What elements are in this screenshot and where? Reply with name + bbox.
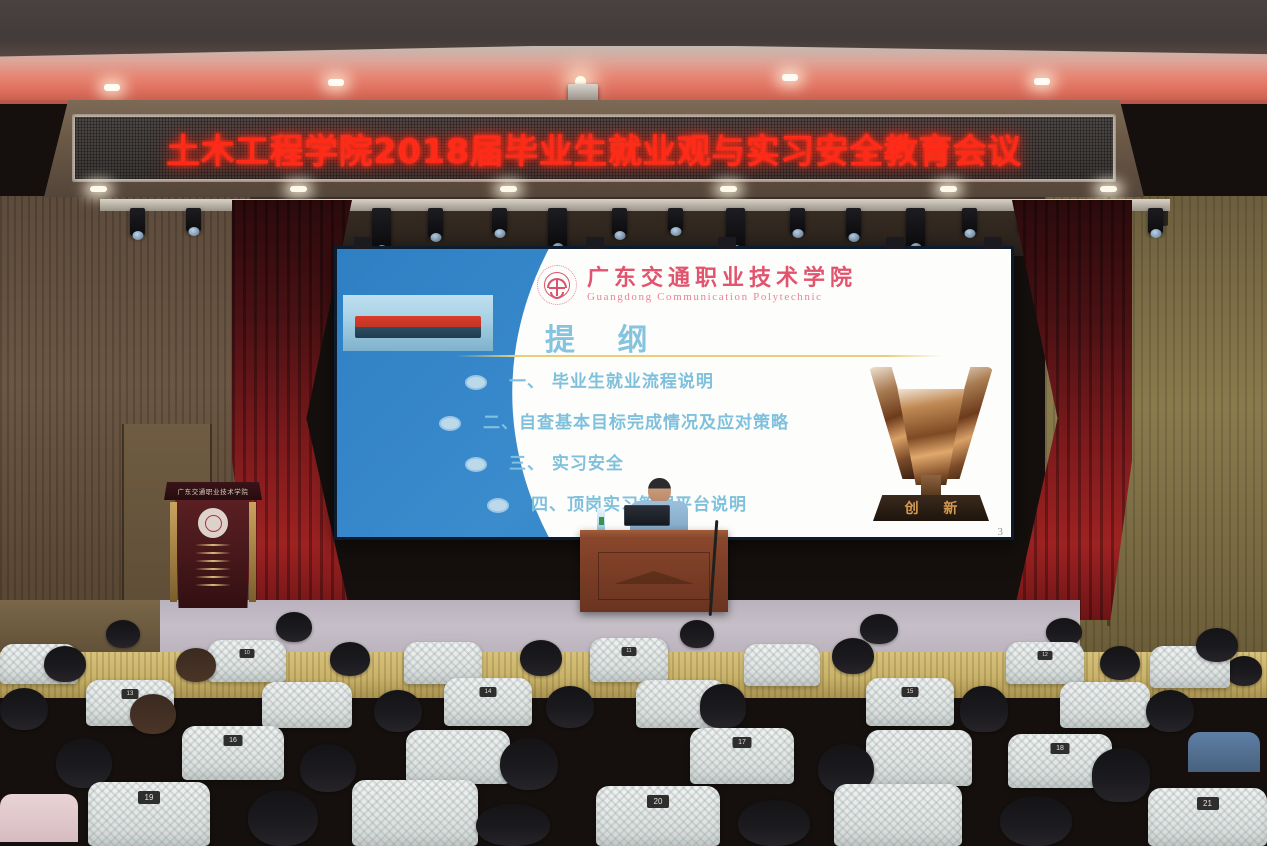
seat[interactable]: 21 — [1148, 788, 1267, 846]
outline-bullet-icon — [467, 459, 485, 470]
ceiling — [0, 0, 1267, 100]
ceiling-downlight — [328, 79, 344, 86]
audience-head — [248, 790, 318, 846]
seat[interactable]: 19 — [88, 782, 210, 846]
seat-number-plate: 15 — [902, 687, 919, 697]
university-crest-icon — [537, 265, 577, 305]
seat[interactable]: 10 — [208, 640, 286, 682]
laptop-computer — [620, 505, 674, 529]
audience-head — [1196, 628, 1238, 662]
audience-head — [176, 648, 216, 682]
audience-head — [106, 620, 140, 648]
podium-slats — [195, 544, 231, 592]
stage-light-fixture — [1148, 208, 1163, 234]
lectern-podium: 广东交通职业技术学院 — [168, 482, 258, 608]
led-banner-frame: 土木工程学院2018届毕业生就业观与实习安全教育会议 — [72, 114, 1116, 182]
seat-number-plate: 20 — [647, 795, 669, 808]
audience-head — [500, 738, 558, 790]
audience-head — [1100, 646, 1140, 680]
slide-page-number: 3 — [998, 526, 1004, 537]
seat-number-plate: 10 — [240, 649, 255, 658]
audience-head — [276, 612, 312, 642]
seat-number-plate: 19 — [138, 791, 160, 804]
stage-light-fixture — [130, 208, 145, 236]
seat[interactable] — [744, 644, 820, 686]
auditorium-scene: 土木工程学院2018届毕业生就业观与实习安全教育会议 — [0, 0, 1267, 846]
led-banner-panel: 土木工程学院2018届毕业生就业观与实习安全教育会议 — [75, 117, 1113, 179]
seat[interactable]: 14 — [444, 678, 532, 726]
seat-number-plate: 21 — [1197, 797, 1219, 810]
audience-head — [1146, 690, 1194, 732]
outline-bullet-icon — [441, 418, 459, 429]
stage-light-fixture — [372, 208, 391, 250]
slide-title: 提 纲 — [545, 315, 663, 359]
audience-head — [130, 694, 176, 734]
seat[interactable] — [352, 780, 478, 846]
seat-number-plate: 13 — [122, 689, 139, 699]
audience-head — [738, 800, 810, 846]
stage-light-fixture — [548, 208, 567, 248]
trophy-caption: 创 新 — [895, 498, 968, 518]
seat-number-plate: 11 — [622, 647, 637, 656]
audience-head — [0, 688, 48, 730]
banner-underlights — [60, 186, 1130, 196]
audience-head — [56, 738, 112, 788]
seat[interactable] — [834, 784, 962, 846]
ceiling-downlight — [104, 84, 120, 91]
audience-seating: 10 11 12 13 14 15 — [0, 598, 1267, 846]
stage-light-fixture — [428, 208, 443, 238]
seat-number-plate: 17 — [733, 737, 752, 748]
seat[interactable] — [1060, 682, 1150, 728]
podium-nameplate-text: 广东交通职业技术学院 — [178, 486, 249, 496]
audience-head — [1226, 656, 1262, 686]
outline-item-label: 二、自查基本目标完成情况及应对策略 — [483, 413, 789, 433]
seat[interactable]: 16 — [182, 726, 284, 780]
outline-item-label: 一、 毕业生就业流程说明 — [509, 372, 714, 392]
audience-head — [546, 686, 594, 728]
audience-head — [300, 744, 356, 792]
stage-light-fixture — [962, 208, 977, 234]
outline-bullet-icon — [467, 377, 485, 388]
led-banner-text: 土木工程学院2018届毕业生就业观与实习安全教育会议 — [166, 124, 1022, 173]
seat-number-plate: 14 — [480, 687, 497, 697]
audience-head — [374, 690, 422, 732]
podium-emblem-icon — [198, 508, 228, 538]
seat[interactable]: 20 — [596, 786, 720, 846]
outline-bullet-icon — [489, 500, 507, 511]
outline-item-label: 三、 实习安全 — [509, 454, 624, 474]
stage-light-fixture — [906, 208, 925, 248]
audience-head — [1092, 748, 1150, 802]
university-name-en: Guangdong Communication Polytechnic — [587, 291, 857, 303]
photo-container-port — [343, 295, 493, 351]
audience-head — [330, 642, 370, 676]
seat[interactable]: 15 — [866, 678, 954, 726]
podium-nameplate: 广东交通职业技术学院 — [164, 482, 262, 500]
seat[interactable]: 12 — [1006, 642, 1084, 684]
university-name-cn: 广东交通职业技术学院 — [587, 267, 857, 290]
seat-number-plate: 12 — [1038, 651, 1053, 660]
stage-curtain-right — [1012, 200, 1132, 620]
stage-light-fixture — [668, 208, 683, 232]
audience-head — [700, 684, 746, 728]
water-bottle — [597, 508, 605, 532]
audience-shoulders — [0, 794, 78, 842]
audience-head — [832, 638, 874, 674]
audience-shoulders — [1188, 732, 1260, 772]
ceiling-downlight — [782, 74, 798, 81]
audience-head — [960, 686, 1008, 732]
seat[interactable] — [866, 730, 972, 786]
stage-light-fixture — [846, 208, 861, 238]
audience-head — [476, 804, 550, 846]
ceiling-soffit — [0, 46, 1267, 104]
audience-head — [520, 640, 562, 676]
seat[interactable]: 17 — [690, 728, 794, 784]
slide-university-header: 广东交通职业技术学院 Guangdong Communication Polyt… — [537, 263, 967, 307]
ceiling-downlight — [1034, 78, 1050, 85]
podium-pillar — [170, 502, 177, 602]
audience-head — [44, 646, 86, 682]
audience-head — [1000, 796, 1072, 846]
seat-number-plate: 18 — [1051, 743, 1070, 754]
seat-number-plate: 16 — [224, 735, 243, 746]
podium-pillar — [249, 502, 256, 602]
seat[interactable] — [262, 682, 352, 728]
stage-light-fixture — [612, 208, 627, 236]
stage-light-fixture — [492, 208, 507, 234]
audience-head — [680, 620, 714, 648]
seat[interactable]: 11 — [590, 638, 668, 682]
trophy-base: 创 新 — [873, 495, 989, 521]
audience-head — [860, 614, 898, 644]
stage-light-fixture — [186, 208, 201, 232]
seat[interactable] — [406, 730, 510, 784]
trophy-image: 创 新 — [867, 346, 995, 531]
stage-light-fixture — [790, 208, 805, 234]
